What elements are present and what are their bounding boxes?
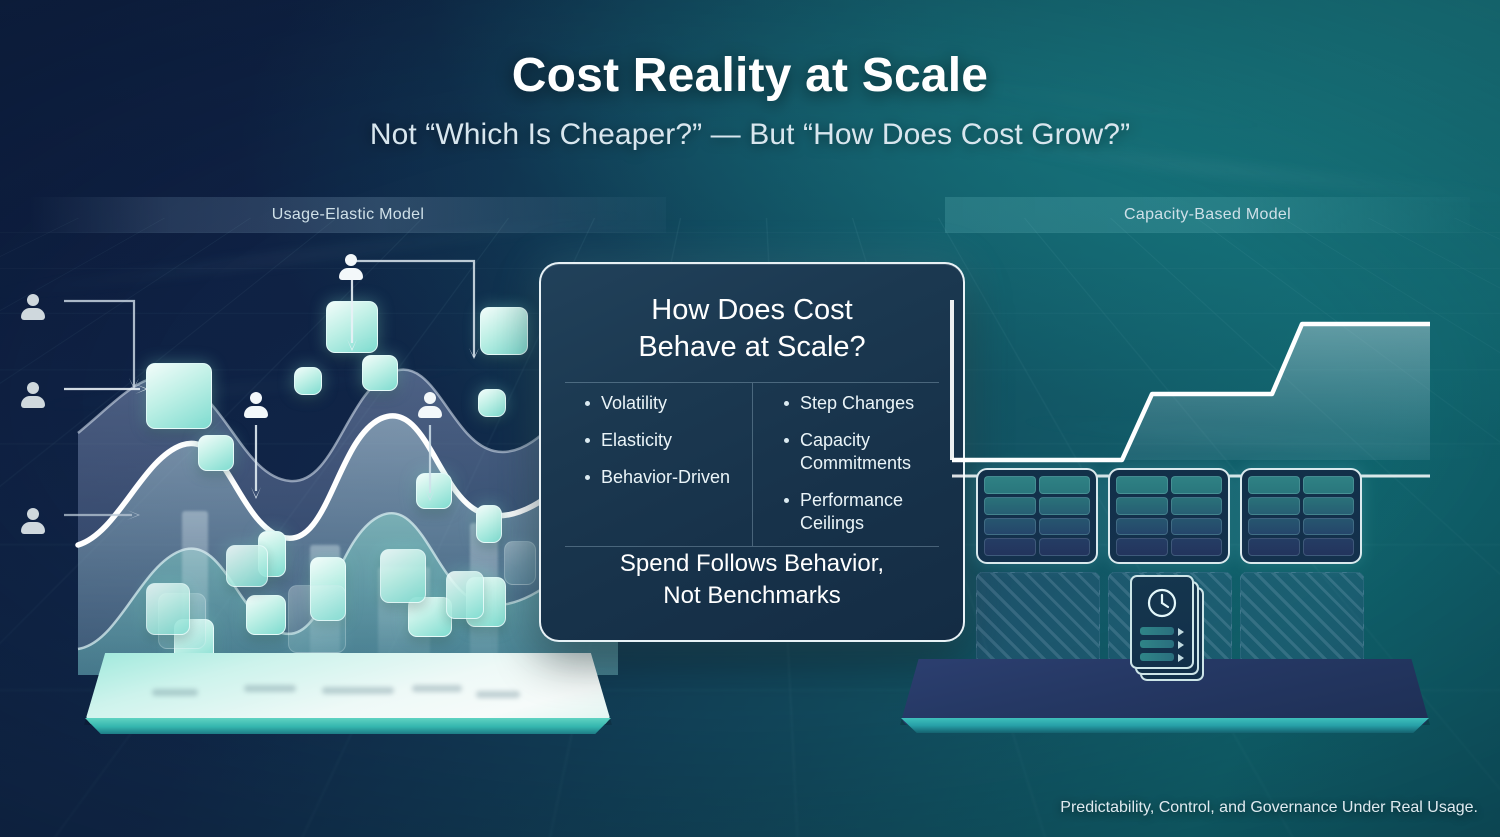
usage-block xyxy=(380,549,426,603)
list-item: Volatility xyxy=(585,392,752,415)
person-icon xyxy=(18,293,48,323)
server-rack xyxy=(1240,468,1362,564)
usage-block xyxy=(246,595,286,635)
server-rack xyxy=(1108,468,1230,564)
person-icon xyxy=(18,507,48,537)
card-list-left: Volatility Elasticity Behavior-Driven xyxy=(541,392,752,549)
list-item: Elasticity xyxy=(585,429,752,452)
page-subtitle: Not “Which Is Cheaper?” — But “How Does … xyxy=(0,118,1500,152)
panel-label-usage-elastic: Usage-Elastic Model xyxy=(30,197,666,233)
list-item: Behavior-Driven xyxy=(585,466,752,489)
card-divider-bottom xyxy=(565,546,939,547)
usage-block xyxy=(226,545,268,587)
usage-platform xyxy=(84,653,612,725)
usage-block xyxy=(146,583,190,635)
usage-elastic-visual xyxy=(78,245,618,725)
usage-block xyxy=(288,585,346,653)
footer-caption: Predictability, Control, and Governance … xyxy=(1060,799,1478,817)
panel-label-text: Capacity-Based Model xyxy=(1124,206,1291,224)
panel-label-text: Usage-Elastic Model xyxy=(272,206,424,224)
infographic-canvas: Cost Reality at Scale Not “Which Is Chea… xyxy=(0,0,1500,837)
document-stack-icon xyxy=(1130,575,1202,679)
usage-connectors xyxy=(12,239,572,569)
person-icon xyxy=(336,253,366,283)
server-rack xyxy=(976,468,1098,564)
person-icon xyxy=(241,391,271,421)
usage-block xyxy=(446,571,484,619)
panel-label-capacity-based: Capacity-Based Model xyxy=(945,197,1470,233)
person-icon xyxy=(415,391,445,421)
clock-icon xyxy=(1146,587,1178,619)
page-title: Cost Reality at Scale xyxy=(0,48,1500,103)
person-icon xyxy=(18,381,48,411)
